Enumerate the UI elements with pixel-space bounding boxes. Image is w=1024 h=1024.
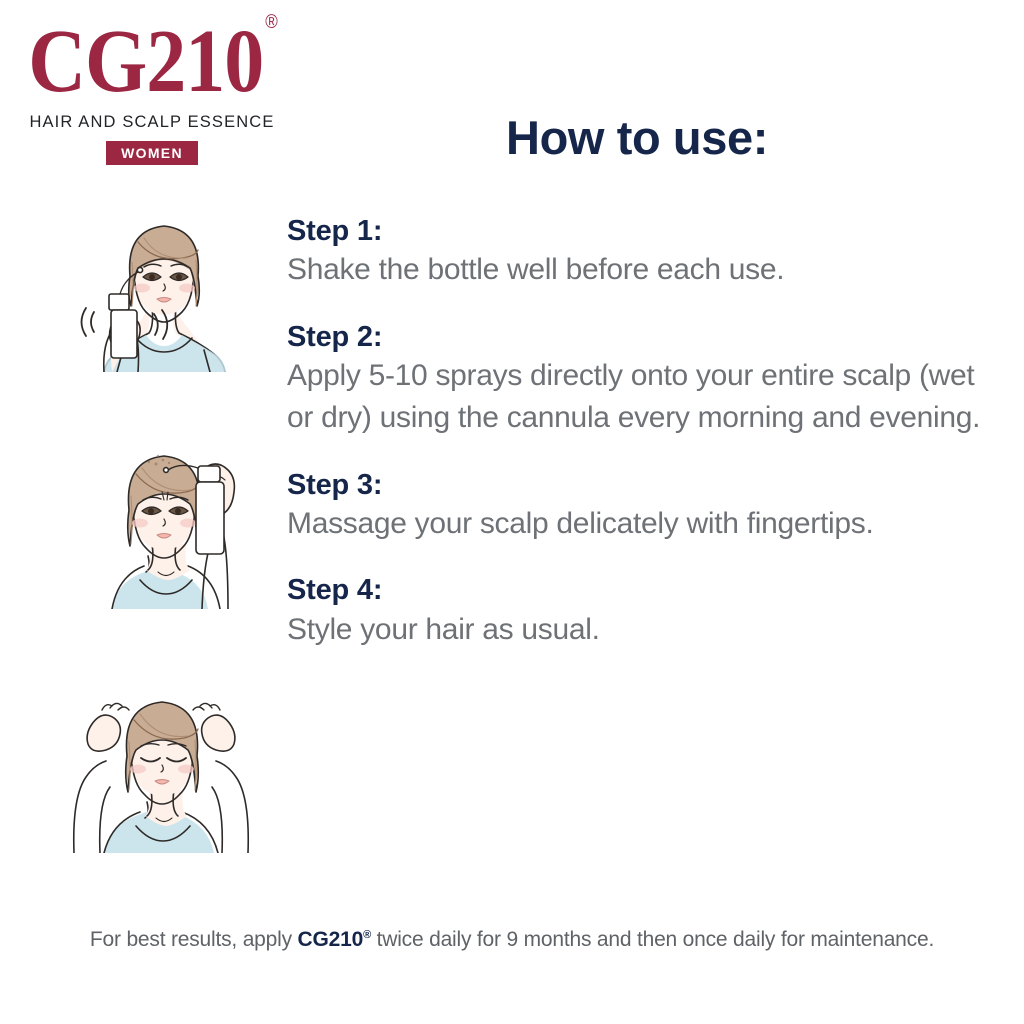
brand-tagline: HAIR AND SCALP ESSENCE xyxy=(18,113,286,132)
step-item-4: Step 4: Style your hair as usual. xyxy=(287,573,1002,651)
step-1-heading: Step 1: xyxy=(287,214,1002,249)
steps-list: Step 1: Shake the bottle well before eac… xyxy=(287,214,1002,673)
footer-prefix: For best results, apply xyxy=(90,928,298,951)
step-item-1: Step 1: Shake the bottle well before eac… xyxy=(287,214,1002,292)
footer-suffix: twice daily for 9 months and then once d… xyxy=(371,928,934,951)
footer-brand: CG210 xyxy=(298,928,364,951)
brand-logo: CG210® HAIR AND SCALP ESSENCE WOMEN xyxy=(18,18,286,165)
step-1-body: Shake the bottle well before each use. xyxy=(287,249,1002,291)
step-2-body: Apply 5-10 sprays directly onto your ent… xyxy=(287,355,1002,440)
step-3-heading: Step 3: xyxy=(287,468,1002,503)
illustration-step-1-shaking-bottle xyxy=(52,202,267,372)
brand-wordmark: CG210® xyxy=(28,18,276,106)
step-2-heading: Step 2: xyxy=(287,320,1002,355)
step-item-3: Step 3: Massage your scalp delicately wi… xyxy=(287,468,1002,546)
illustration-step-2-spraying-scalp xyxy=(52,404,267,609)
page-title: How to use: xyxy=(287,110,987,165)
footer-registered-icon: ® xyxy=(363,929,371,941)
step-4-heading: Step 4: xyxy=(287,573,1002,608)
step-item-2: Step 2: Apply 5-10 sprays directly onto … xyxy=(287,320,1002,440)
step-3-body: Massage your scalp delicately with finge… xyxy=(287,503,1002,545)
footer-note: For best results, apply CG210® twice dai… xyxy=(0,928,1024,952)
brand-wordmark-text: CG210 xyxy=(28,12,263,111)
illustration-step-3-massaging-scalp xyxy=(52,648,267,853)
step-4-body: Style your hair as usual. xyxy=(287,609,1002,651)
brand-badge-women: WOMEN xyxy=(106,141,198,165)
registered-trademark-icon: ® xyxy=(265,12,278,33)
